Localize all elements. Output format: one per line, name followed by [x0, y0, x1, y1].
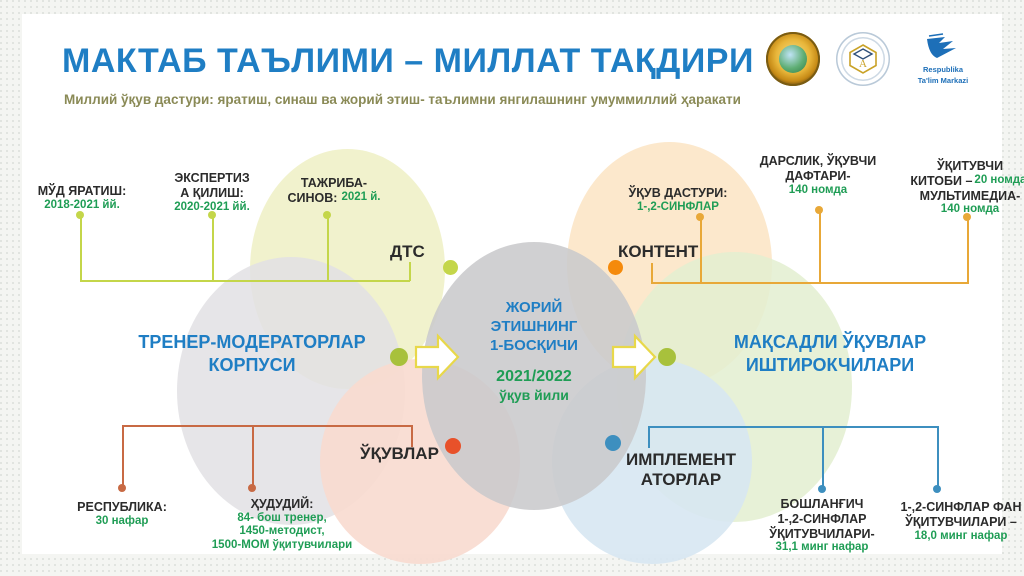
connector-stem-bl-2 [252, 425, 254, 487]
node-label-implementatorlar-line1: ИМПЛЕМЕНТ [626, 450, 736, 470]
callout-tl-2-value: 2020-2021 йй. [152, 201, 272, 215]
callout-tl-2-key-line1: ЭКСПЕРТИЗ [152, 171, 272, 186]
callout-bottom-left-1: РЕСПУБЛИКА: 30 нафар [57, 500, 187, 528]
side-heading-left-line2: КОРПУСИ [114, 354, 390, 377]
node-label-uquvlar: ЎҚУВЛАР [360, 444, 439, 464]
connector-riser-br [648, 426, 650, 448]
bird-logo-caption-line1: Respublika [923, 65, 963, 74]
connector-stem-tr-2 [819, 209, 821, 282]
bird-logo-caption-line2: Ta'lim Markazi [918, 76, 968, 85]
infographic-card: МАКТАБ ТАЪЛИМИ – МИЛЛАТ ТАҚДИРИ Миллий ў… [22, 14, 1002, 554]
callout-dot-br-2 [933, 485, 941, 493]
callout-dot-bl-2 [248, 484, 256, 492]
node-dot-kontent [608, 260, 623, 275]
bird-logo: Respublika Ta'lim Markazi [906, 33, 980, 86]
side-heading-left-line1: ТРЕНЕР-МОДЕРАТОРЛАР [114, 331, 390, 354]
callout-tr-1-key: ЎҚУВ ДАСТУРИ: [607, 186, 749, 201]
flank-dot-right [658, 348, 676, 366]
callout-top-right-2: ДАРСЛИК, ЎҚУВЧИ ДАФТАРИ- 140 номда [734, 154, 902, 197]
side-heading-right-line2: ИШТИРОКЧИЛАРИ [692, 354, 968, 377]
callout-tr-3-key-line2: КИТОБИ – [910, 174, 972, 189]
node-label-dts: ДТС [390, 242, 425, 262]
connector-bracket-top-left [80, 280, 410, 282]
callout-tr-1-value: 1-,2-СИНФЛАР [607, 201, 749, 215]
callout-tl-2-key-line2: А ҚИЛИШ: [152, 186, 272, 201]
callout-tr-2-key-line1: ДАРСЛИК, ЎҚУВЧИ [734, 154, 902, 169]
flank-dot-left [390, 348, 408, 366]
callout-tr-3-value: 140 номда [894, 203, 1024, 217]
callout-top-left-3: ТАЖРИБА- СИНОВ: 2021 й. [270, 176, 398, 206]
callout-br-2-key-line2: ЎҚИТУВЧИЛАРИ – [877, 515, 1024, 530]
callout-tr-2-key-line2: ДАФТАРИ- [734, 169, 902, 184]
callout-bl-1-key: РЕСПУБЛИКА: [57, 500, 187, 515]
center-year: 2021/2022 [439, 367, 629, 387]
callout-dot-tr-2 [815, 206, 823, 214]
svg-text:A: A [859, 58, 867, 70]
callout-tr-2-value: 140 номда [734, 184, 902, 198]
callout-dot-bl-1 [118, 484, 126, 492]
page-title: МАКТАБ ТАЪЛИМИ – МИЛЛАТ ТАҚДИРИ [62, 42, 782, 81]
side-heading-left: ТРЕНЕР-МОДЕРАТОРЛАР КОРПУСИ [114, 331, 390, 376]
connector-stem-br-2 [937, 426, 939, 488]
connector-stem-br-1 [822, 426, 824, 488]
connector-bracket-top-right [651, 282, 969, 284]
callout-bl-2-key: ҲУДУДИЙ: [182, 497, 382, 512]
callout-top-right-3: ЎҚИТУВЧИ КИТОБИ – 20 номда, МУЛЬТИМЕДИА-… [894, 159, 1024, 217]
callout-bl-2-value-line1: 84- бош тренер, [182, 512, 382, 526]
connector-stem-tr-3 [967, 216, 969, 282]
callout-bl-2-value-line3: 1500-МОМ ўқитувчилари [182, 539, 382, 553]
connector-riser-tl [409, 262, 411, 281]
callout-tr-3-key-line1: ЎҚИТУВЧИ [894, 159, 1024, 174]
connector-bracket-bottom-right [648, 426, 938, 428]
node-dot-dts [443, 260, 458, 275]
center-year-sub: ўқув йили [439, 387, 629, 405]
node-dot-uquvlar [445, 438, 461, 454]
callout-br-1-value: 31,1 минг нафар [742, 541, 902, 555]
callout-dot-br-1 [818, 485, 826, 493]
callout-tl-1-key: МЎД ЯРАТИШ: [17, 184, 147, 199]
node-label-implementatorlar: ИМПЛЕМЕНТ АТОРЛАР [626, 450, 736, 491]
callout-tr-3-value2: 20 номда, [974, 174, 1024, 189]
callout-br-2-value: 18,0 минг нафар [877, 530, 1024, 544]
callout-bl-2-value-line2: 1450-методист, [182, 525, 382, 539]
monogram-logo-icon: A [836, 32, 890, 86]
center-text-block: ЖОРИЙ ЭТИШНИНГ 1-БОСҚИЧИ 2021/2022 ўқув … [439, 298, 629, 405]
logo-group: A Respublika Ta'lim Markazi [766, 32, 980, 86]
callout-top-right-1: ЎҚУВ ДАСТУРИ: 1-,2-СИНФЛАР [607, 186, 749, 214]
callout-tl-3-key-line2: СИНОВ: [288, 191, 338, 206]
node-label-kontent: КОНТЕНТ [618, 242, 698, 262]
node-dot-implementatorlar [605, 435, 621, 451]
connector-stem-tl-1 [80, 214, 82, 280]
callout-tl-1-value: 2018-2021 йй. [17, 199, 147, 213]
center-line2: ЭТИШНИНГ [439, 317, 629, 336]
side-heading-right: МАҚСАДЛИ ЎҚУВЛАР ИШТИРОКЧИЛАРИ [692, 331, 968, 376]
page-subtitle: Миллий ўқув дастури: яратиш, синаш ва жо… [64, 92, 864, 107]
connector-bracket-bottom-left [122, 425, 412, 427]
side-heading-right-line1: МАҚСАДЛИ ЎҚУВЛАР [692, 331, 968, 354]
callout-bottom-left-2: ҲУДУДИЙ: 84- бош тренер, 1450-методист, … [182, 497, 382, 552]
callout-tr-3-key-line3: МУЛЬТИМЕДИА- [894, 189, 1024, 204]
node-label-implementatorlar-line2: АТОРЛАР [626, 470, 736, 490]
infographic-stage: МАКТАБ ТАЪЛИМИ – МИЛЛАТ ТАҚДИРИ Миллий ў… [0, 0, 1024, 576]
state-emblem-logo-icon [766, 32, 820, 86]
connector-stem-tl-2 [212, 214, 214, 280]
callout-tl-3-value: 2021 й. [341, 191, 380, 206]
callout-dot-tl-3 [323, 211, 331, 219]
bird-logo-icon [923, 33, 963, 63]
center-line3: 1-БОСҚИЧИ [439, 336, 629, 355]
callout-bottom-right-2: 1-,2-СИНФЛАР ФАН ЎҚИТУВЧИЛАРИ – 18,0 мин… [877, 500, 1024, 543]
callout-bl-1-value: 30 нафар [57, 515, 187, 529]
callout-tl-3-key-line1: ТАЖРИБА- [270, 176, 398, 191]
callout-top-left-2: ЭКСПЕРТИЗ А ҚИЛИШ: 2020-2021 йй. [152, 171, 272, 214]
monogram-inner-icon: A [836, 32, 890, 86]
callout-top-left-1: МЎД ЯРАТИШ: 2018-2021 йй. [17, 184, 147, 212]
connector-stem-bl-1 [122, 425, 124, 487]
callout-br-2-key-line1: 1-,2-СИНФЛАР ФАН [877, 500, 1024, 515]
connector-stem-tr-1 [700, 216, 702, 282]
connector-stem-tl-3 [327, 214, 329, 280]
center-line1: ЖОРИЙ [439, 298, 629, 317]
connector-riser-tr [651, 263, 653, 282]
